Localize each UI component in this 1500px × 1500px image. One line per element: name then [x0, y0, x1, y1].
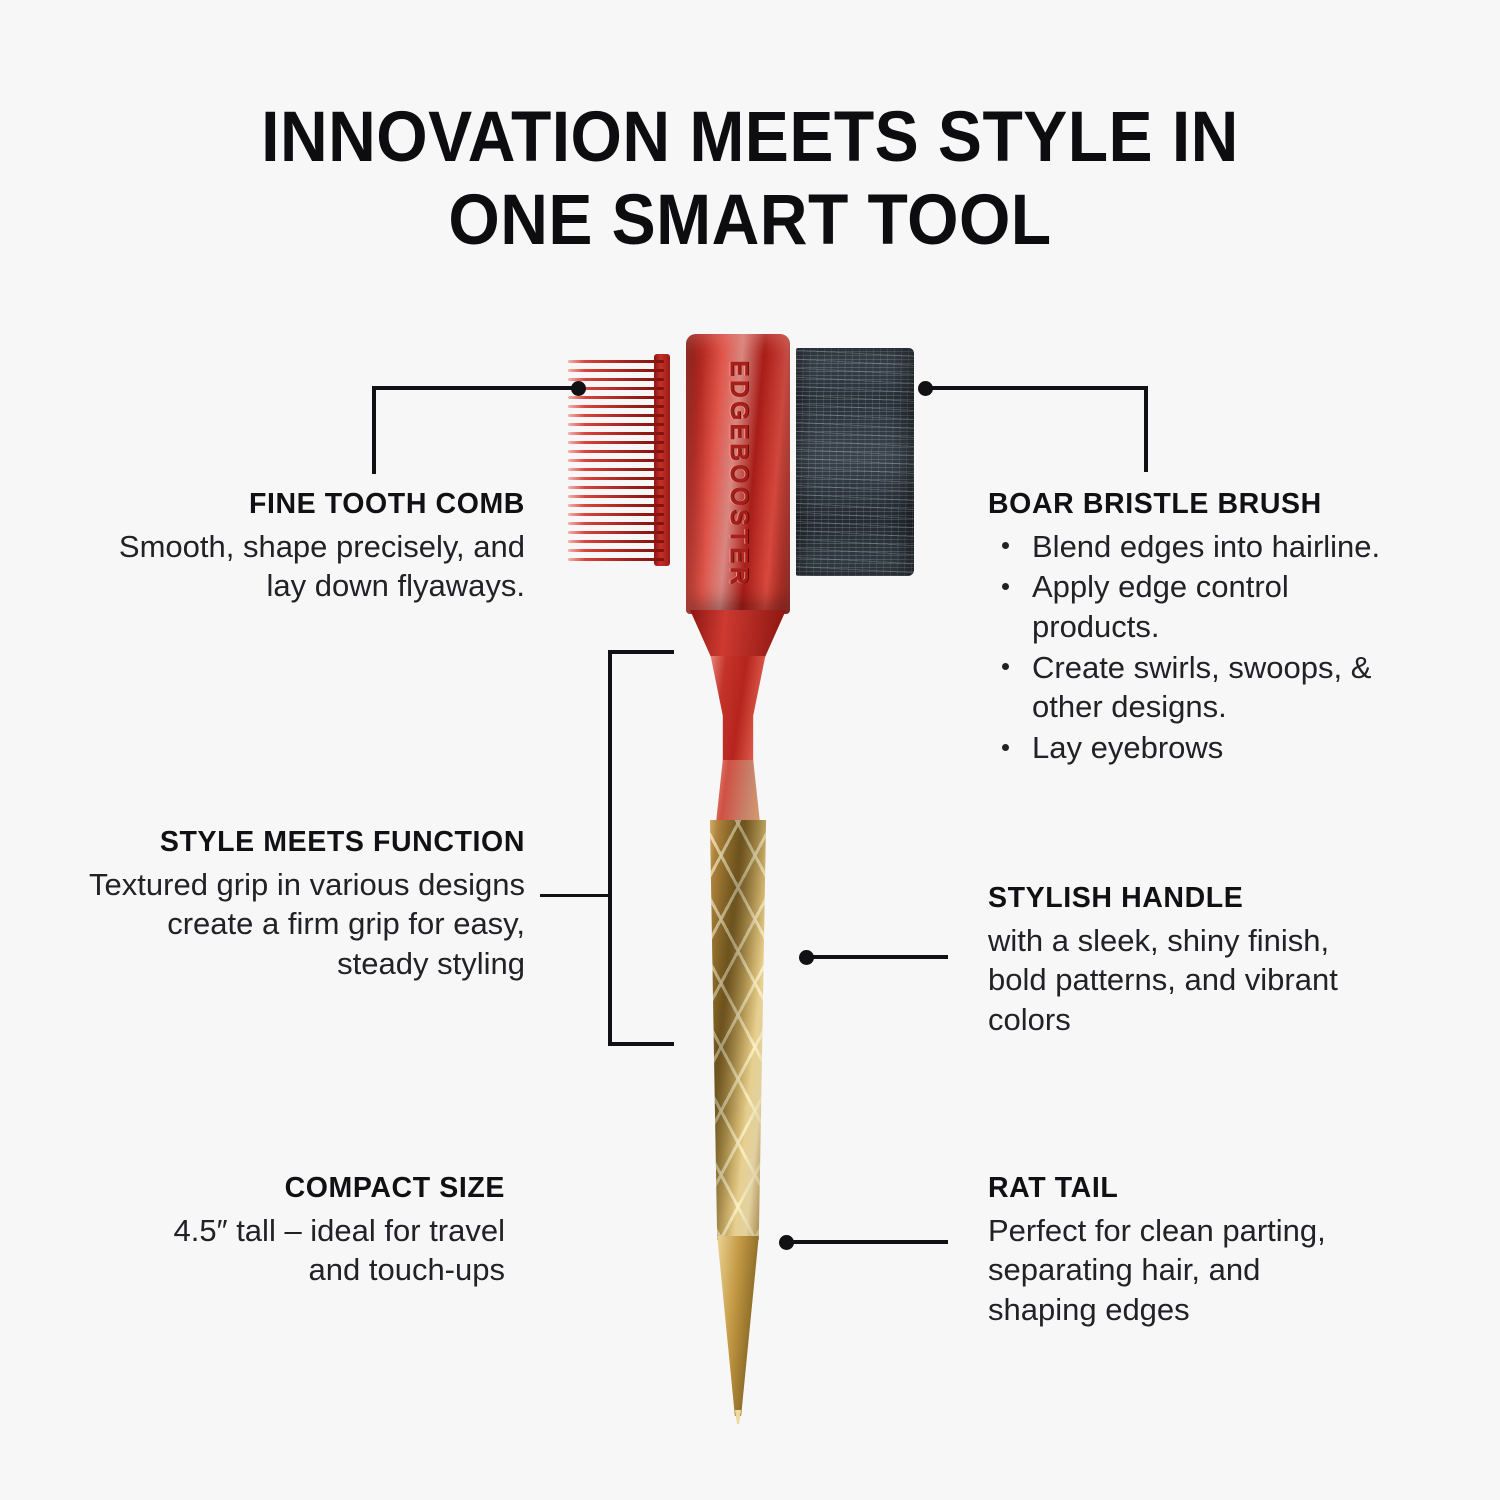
- boar-bristle-part: [796, 348, 914, 576]
- callout-fine-tooth-comb: FINE TOOTH COMB Smooth, shape precisely,…: [110, 488, 525, 606]
- callout-heading-rat-tail: RAT TAIL: [988, 1172, 1358, 1205]
- callout-body-fine-tooth-comb: Smooth, shape precisely, and lay down fl…: [110, 527, 525, 606]
- bracket-style-meets-function-v: [608, 650, 612, 1046]
- callout-heading-boar-bristle-brush: BOAR BRISTLE BRUSH: [988, 488, 1418, 521]
- title-line-1: INNOVATION MEETS STYLE IN: [261, 98, 1239, 177]
- list-item-label: Apply edge control products.: [1032, 569, 1289, 644]
- leader-line-fine-tooth-comb-h: [372, 386, 576, 390]
- list-item: Create swirls, swoops, & other designs.: [988, 648, 1418, 727]
- infographic-canvas: INNOVATION MEETS STYLE IN ONE SMART TOOL…: [0, 0, 1500, 1500]
- rat-tail-tip: [686, 1410, 790, 1424]
- bracket-style-meets-function-top: [608, 650, 674, 654]
- bracket-style-meets-function-stem: [540, 894, 612, 897]
- callout-compact-size: COMPACT SIZE 4.5″ tall – ideal for trave…: [115, 1172, 505, 1290]
- callout-bullet-list-boar-bristle-brush: Blend edges into hairline. Apply edge co…: [988, 527, 1418, 768]
- list-item-label: Create swirls, swoops, & other designs.: [1032, 650, 1371, 725]
- leader-line-boar-bristle-brush-v: [1144, 386, 1148, 472]
- list-item: Blend edges into hairline.: [988, 527, 1418, 567]
- list-item: Lay eyebrows: [988, 728, 1418, 768]
- callout-rat-tail: RAT TAIL Perfect for clean parting, sepa…: [988, 1172, 1358, 1330]
- callout-heading-style-meets-function: STYLE MEETS FUNCTION: [70, 826, 525, 859]
- bullet-icon: [1002, 542, 1009, 549]
- bullet-icon: [1002, 663, 1009, 670]
- brand-logo-text: EDGEBOOSTER: [724, 360, 753, 587]
- list-item: Apply edge control products.: [988, 567, 1418, 646]
- handle-neck-lower: [700, 760, 776, 830]
- bullet-icon: [1002, 583, 1009, 590]
- callout-heading-compact-size: COMPACT SIZE: [115, 1172, 505, 1205]
- callout-body-style-meets-function: Textured grip in various designs create …: [70, 865, 525, 984]
- leader-line-stylish-handle: [806, 955, 948, 959]
- bracket-style-meets-function-bottom: [608, 1042, 674, 1046]
- grip-shading: [686, 820, 790, 1240]
- brush-body: EDGEBOOSTER: [686, 334, 790, 614]
- bullet-icon: [1002, 744, 1009, 751]
- callout-body-compact-size: 4.5″ tall – ideal for travel and touch-u…: [115, 1211, 505, 1290]
- leader-line-fine-tooth-comb-v: [372, 386, 376, 474]
- textured-grip: [686, 820, 790, 1240]
- list-item-label: Lay eyebrows: [1032, 730, 1223, 765]
- callout-boar-bristle-brush: BOAR BRISTLE BRUSH Blend edges into hair…: [988, 488, 1418, 769]
- callout-heading-fine-tooth-comb: FINE TOOTH COMB: [110, 488, 525, 521]
- callout-body-rat-tail: Perfect for clean parting, separating ha…: [988, 1211, 1358, 1330]
- list-item-label: Blend edges into hairline.: [1032, 529, 1380, 564]
- callout-style-meets-function: STYLE MEETS FUNCTION Textured grip in va…: [70, 826, 525, 984]
- page-title: INNOVATION MEETS STYLE IN ONE SMART TOOL: [53, 96, 1448, 262]
- callout-heading-stylish-handle: STYLISH HANDLE: [988, 882, 1388, 915]
- leader-line-boar-bristle-brush-h: [925, 386, 1148, 390]
- title-line-2: ONE SMART TOOL: [53, 179, 1448, 262]
- callout-body-stylish-handle: with a sleek, shiny finish, bold pattern…: [988, 921, 1388, 1040]
- leader-line-rat-tail: [786, 1240, 948, 1244]
- callout-stylish-handle: STYLISH HANDLE with a sleek, shiny finis…: [988, 882, 1388, 1040]
- rat-tail-part: [686, 1236, 790, 1416]
- product-image: EDGEBOOSTER: [560, 320, 960, 1410]
